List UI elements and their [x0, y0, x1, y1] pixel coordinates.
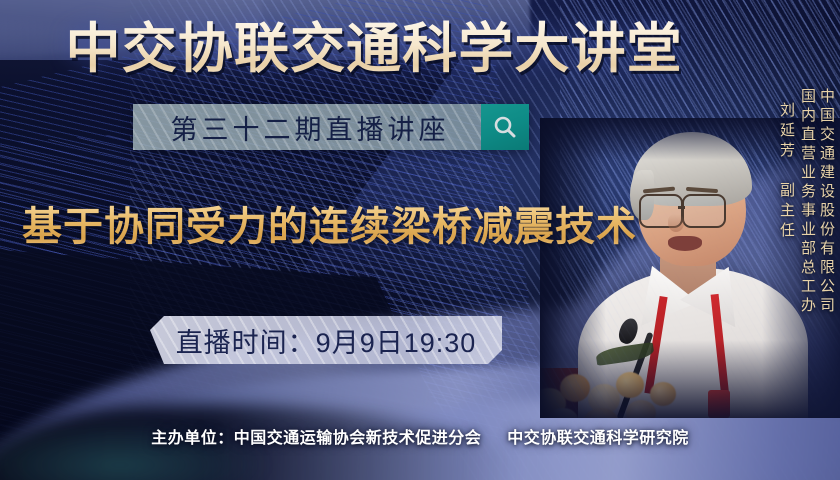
broadcast-time-label: 直播时间：9月9日19:30 — [176, 321, 477, 360]
organizer-secondary: 中交协联交通科学研究院 — [507, 430, 689, 447]
episode-banner: 第三十二期直播讲座 — [133, 104, 529, 150]
speaker-department: 国内直营业务事业部总工办 — [800, 88, 815, 316]
search-button[interactable] — [481, 104, 529, 150]
flower-arrangement — [540, 356, 691, 418]
speaker-name-and-title: 刘延芳 副主任 — [779, 102, 794, 242]
speaker-mouth — [668, 236, 702, 251]
episode-label: 第三十二期直播讲座 — [133, 104, 481, 150]
speaker-credit: 刘延芳 副主任 国内直营业务事业部总工办 中国交通建设股份有限公司 — [771, 88, 834, 316]
badge — [708, 390, 730, 418]
glasses-bridge — [678, 206, 685, 209]
livestream-poster: 中交协联交通科学大讲堂 第三十二期直播讲座 基于协同受力的连续梁桥减震技术 直播… — [0, 0, 840, 480]
search-icon — [492, 114, 518, 140]
flower-8 — [650, 382, 676, 406]
flower-7 — [626, 400, 656, 418]
organizer-primary: 主办单位：中国交通运输协会新技术促进分会 — [151, 430, 481, 447]
glasses-lens-right — [682, 194, 726, 228]
flower-2 — [560, 374, 590, 402]
organizer-footer: 主办单位：中国交通运输协会新技术促进分会中交协联交通科学研究院 — [0, 424, 840, 448]
lecture-topic: 基于协同受力的连续梁桥减震技术 — [22, 203, 637, 251]
speaker-company: 中国交通建设股份有限公司 — [819, 88, 834, 316]
flower-4 — [616, 372, 644, 398]
speaker-nose — [668, 214, 684, 232]
broadcast-time-banner: 直播时间：9月9日19:30 — [150, 316, 502, 364]
page-title: 中交协联交通科学大讲堂 — [0, 20, 840, 78]
